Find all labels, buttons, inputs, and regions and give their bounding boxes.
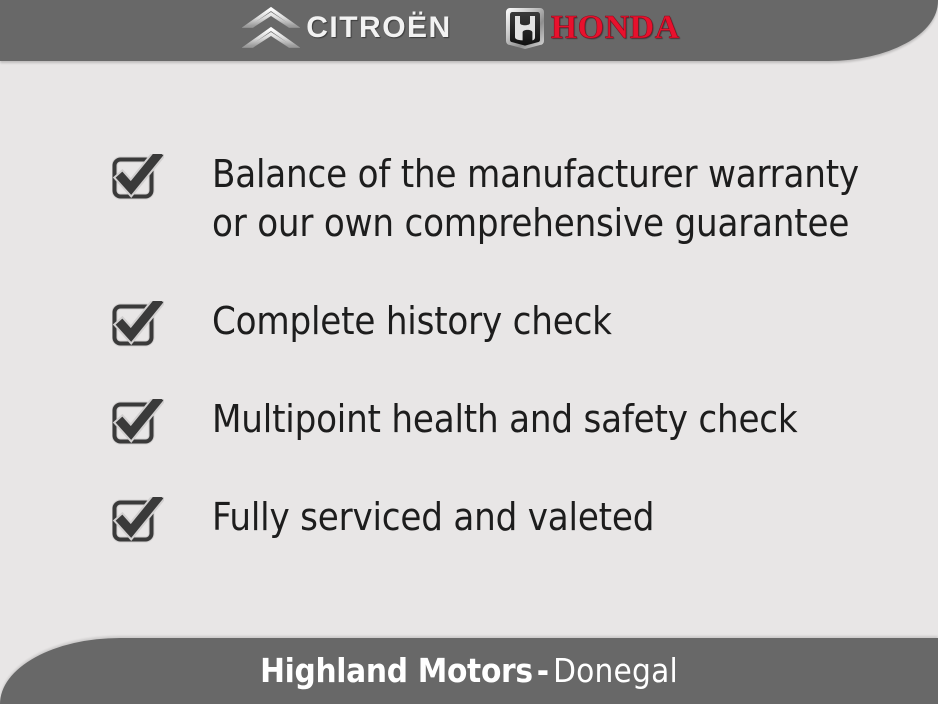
brand-logo-group: CITROËN (242, 5, 680, 51)
dealer-footer-bar: Highland Motors-Donegal (0, 638, 938, 704)
checked-checkbox-icon (112, 399, 164, 451)
list-item-label: Complete history check (212, 297, 612, 346)
list-item: Complete history check (112, 297, 612, 353)
brand-header-bar: CITROËN (0, 0, 938, 61)
citroen-wordmark: CITROËN (306, 13, 452, 43)
honda-h-emblem-icon (504, 5, 546, 51)
checked-checkbox-icon (112, 497, 164, 549)
checked-checkbox-icon (112, 301, 164, 353)
dealer-footer-text: Highland Motors-Donegal (260, 654, 678, 687)
list-item: Multipoint health and safety check (112, 395, 797, 451)
checked-checkbox-icon (112, 154, 164, 206)
list-item: Balance of the manufacturer warranty or … (112, 150, 859, 248)
list-item: Fully serviced and valeted (112, 493, 654, 549)
dealer-separator: - (533, 651, 553, 690)
promo-slide: CITROËN (0, 0, 938, 704)
dealer-location: Donegal (553, 651, 678, 690)
dealer-name: Highland Motors (260, 651, 533, 690)
list-item-label: Multipoint health and safety check (212, 395, 797, 444)
feature-list: Balance of the manufacturer warranty or … (0, 61, 938, 634)
list-item-label: Fully serviced and valeted (212, 493, 654, 542)
honda-logo: HONDA (504, 5, 680, 51)
list-item-label: Balance of the manufacturer warranty or … (212, 150, 859, 248)
citroen-chevrons-icon (242, 5, 300, 51)
citroen-logo: CITROËN (242, 5, 452, 51)
honda-wordmark: HONDA (551, 11, 680, 45)
